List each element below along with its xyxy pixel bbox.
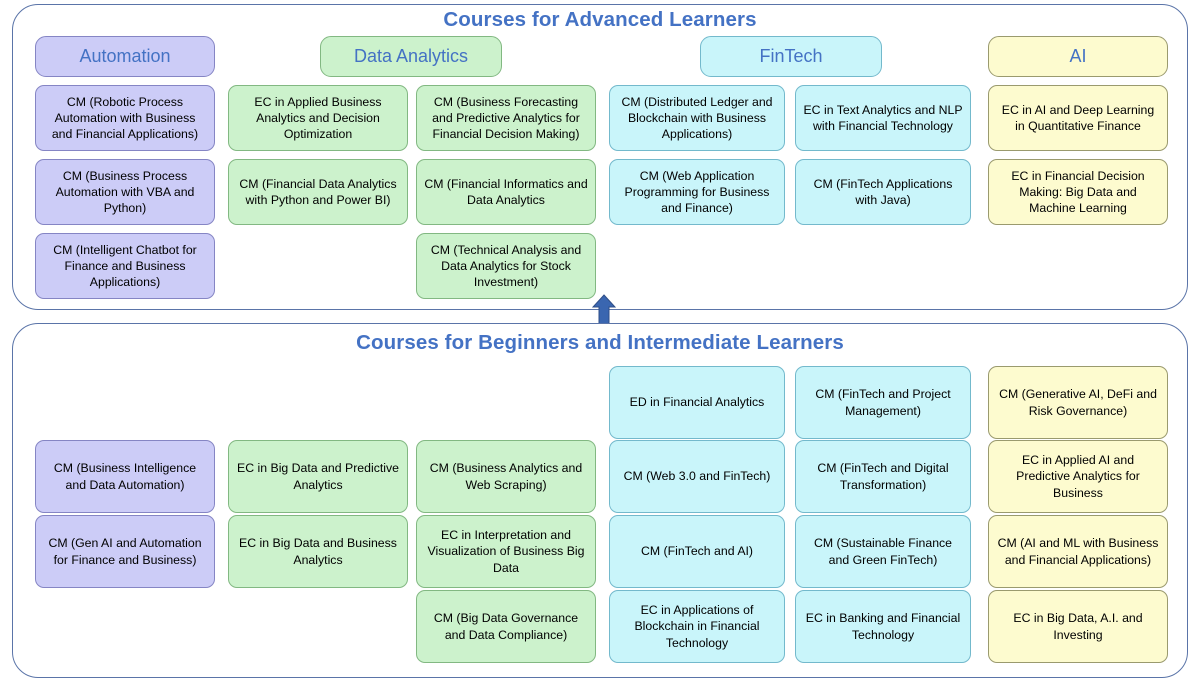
course-box[interactable]: EC in Big Data, A.I. and Investing	[988, 590, 1168, 663]
course-box[interactable]: EC in Text Analytics and NLP with Financ…	[795, 85, 971, 151]
category-header-ai[interactable]: AI	[988, 36, 1168, 77]
course-box[interactable]: CM (Financial Data Analytics with Python…	[228, 159, 408, 225]
course-label: CM (Big Data Governance and Data Complia…	[424, 610, 588, 642]
course-box[interactable]: EC in Applied Business Analytics and Dec…	[228, 85, 408, 151]
course-box[interactable]: CM (Financial Informatics and Data Analy…	[416, 159, 596, 225]
course-box[interactable]: CM (Robotic Process Automation with Busi…	[35, 85, 215, 151]
course-box[interactable]: CM (FinTech and AI)	[609, 515, 785, 588]
course-label: CM (Distributed Ledger and Blockchain wi…	[617, 94, 777, 143]
course-label: CM (Web 3.0 and FinTech)	[617, 468, 777, 484]
course-label: CM (Business Process Automation with VBA…	[43, 168, 207, 217]
diagram-canvas: Courses for Advanced Learners Automation…	[0, 0, 1200, 682]
course-label: EC in Applied Business Analytics and Dec…	[236, 94, 400, 143]
course-label: CM (Sustainable Finance and Green FinTec…	[803, 535, 963, 567]
up-arrow-icon	[592, 294, 616, 326]
course-label: CM (FinTech Applications with Java)	[803, 176, 963, 208]
course-box[interactable]: EC in Applied AI and Predictive Analytic…	[988, 440, 1168, 513]
course-box[interactable]: CM (FinTech Applications with Java)	[795, 159, 971, 225]
course-box[interactable]: CM (Gen AI and Automation for Finance an…	[35, 515, 215, 588]
course-label: CM (Business Analytics and Web Scraping)	[424, 460, 588, 492]
course-label: EC in Text Analytics and NLP with Financ…	[803, 102, 963, 134]
course-box[interactable]: CM (FinTech and Digital Transformation)	[795, 440, 971, 513]
course-box[interactable]: EC in Big Data and Business Analytics	[228, 515, 408, 588]
course-label: CM (AI and ML with Business and Financia…	[996, 535, 1160, 567]
course-label: CM (FinTech and Digital Transformation)	[803, 460, 963, 492]
panel-beginner-title: Courses for Beginners and Intermediate L…	[0, 331, 1200, 355]
course-label: CM (Business Intelligence and Data Autom…	[43, 460, 207, 492]
course-label: CM (FinTech and Project Management)	[803, 386, 963, 418]
course-label: ED in Financial Analytics	[617, 394, 777, 410]
course-box[interactable]: EC in AI and Deep Learning in Quantitati…	[988, 85, 1168, 151]
course-box[interactable]: CM (Big Data Governance and Data Complia…	[416, 590, 596, 663]
course-label: CM (Financial Data Analytics with Python…	[236, 176, 400, 208]
course-label: CM (Generative AI, DeFi and Risk Governa…	[996, 386, 1160, 418]
course-label: CM (Technical Analysis and Data Analytic…	[424, 242, 588, 291]
course-label: EC in Big Data, A.I. and Investing	[996, 610, 1160, 642]
course-label: EC in Interpretation and Visualization o…	[424, 527, 588, 576]
course-box[interactable]: CM (Technical Analysis and Data Analytic…	[416, 233, 596, 299]
course-label: EC in Applications of Blockchain in Fina…	[617, 602, 777, 651]
course-box[interactable]: EC in Big Data and Predictive Analytics	[228, 440, 408, 513]
course-box[interactable]: EC in Banking and Financial Technology	[795, 590, 971, 663]
course-box[interactable]: EC in Financial Decision Making: Big Dat…	[988, 159, 1168, 225]
course-box[interactable]: CM (Sustainable Finance and Green FinTec…	[795, 515, 971, 588]
course-box[interactable]: ED in Financial Analytics	[609, 366, 785, 439]
panel-advanced-title: Courses for Advanced Learners	[0, 8, 1200, 32]
category-header-label: AI	[996, 45, 1160, 69]
course-box[interactable]: CM (AI and ML with Business and Financia…	[988, 515, 1168, 588]
course-label: CM (Financial Informatics and Data Analy…	[424, 176, 588, 208]
course-label: CM (Web Application Programming for Busi…	[617, 168, 777, 217]
category-header-label: FinTech	[708, 45, 874, 69]
course-box[interactable]: CM (FinTech and Project Management)	[795, 366, 971, 439]
course-box[interactable]: CM (Business Analytics and Web Scraping)	[416, 440, 596, 513]
course-box[interactable]: CM (Distributed Ledger and Blockchain wi…	[609, 85, 785, 151]
course-label: CM (Robotic Process Automation with Busi…	[43, 94, 207, 143]
category-header-label: Data Analytics	[328, 45, 494, 69]
course-label: CM (Gen AI and Automation for Finance an…	[43, 535, 207, 567]
category-header-data-analytics[interactable]: Data Analytics	[320, 36, 502, 77]
category-header-automation[interactable]: Automation	[35, 36, 215, 77]
course-label: EC in Financial Decision Making: Big Dat…	[996, 168, 1160, 217]
course-label: CM (Business Forecasting and Predictive …	[424, 94, 588, 143]
course-box[interactable]: CM (Web 3.0 and FinTech)	[609, 440, 785, 513]
course-label: CM (FinTech and AI)	[617, 543, 777, 559]
course-box[interactable]: EC in Interpretation and Visualization o…	[416, 515, 596, 588]
course-box[interactable]: CM (Generative AI, DeFi and Risk Governa…	[988, 366, 1168, 439]
course-box[interactable]: CM (Web Application Programming for Busi…	[609, 159, 785, 225]
course-label: EC in AI and Deep Learning in Quantitati…	[996, 102, 1160, 134]
category-header-fintech[interactable]: FinTech	[700, 36, 882, 77]
course-label: CM (Intelligent Chatbot for Finance and …	[43, 242, 207, 291]
course-box[interactable]: CM (Intelligent Chatbot for Finance and …	[35, 233, 215, 299]
course-box[interactable]: CM (Business Intelligence and Data Autom…	[35, 440, 215, 513]
course-box[interactable]: EC in Applications of Blockchain in Fina…	[609, 590, 785, 663]
category-header-label: Automation	[43, 45, 207, 69]
course-box[interactable]: CM (Business Forecasting and Predictive …	[416, 85, 596, 151]
course-box[interactable]: CM (Business Process Automation with VBA…	[35, 159, 215, 225]
course-label: EC in Big Data and Business Analytics	[236, 535, 400, 567]
course-label: EC in Banking and Financial Technology	[803, 610, 963, 642]
course-label: EC in Applied AI and Predictive Analytic…	[996, 452, 1160, 501]
course-label: EC in Big Data and Predictive Analytics	[236, 460, 400, 492]
